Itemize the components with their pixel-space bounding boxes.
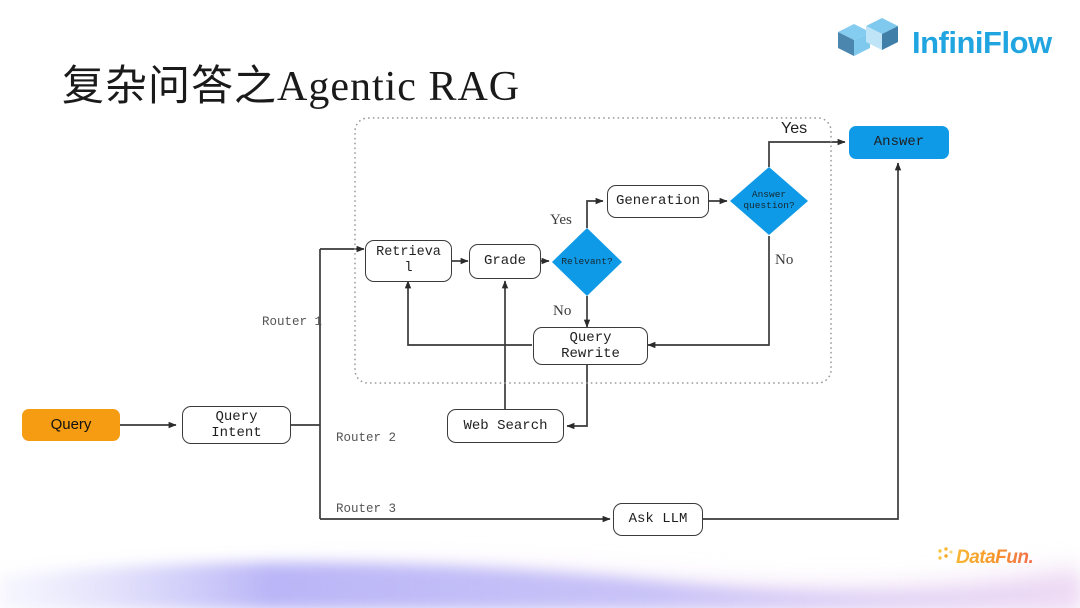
node-relevant-decision[interactable]: Relevant? <box>551 227 623 297</box>
node-generation-label: Generation <box>616 193 700 209</box>
node-answer-question-decision[interactable]: Answer question? <box>729 166 809 236</box>
edge-label-no-answer-question: No <box>775 252 793 269</box>
edge-label-yes-relevant: Yes <box>550 212 572 229</box>
router-label-3: Router 3 <box>336 502 396 516</box>
node-query-rewrite-label-1: Query <box>569 330 611 346</box>
node-grade[interactable]: Grade <box>469 244 541 279</box>
node-ask-llm[interactable]: Ask LLM <box>613 503 703 536</box>
node-query-rewrite-label-2: Rewrite <box>561 346 620 362</box>
router-label-1: Router 1 <box>262 315 322 329</box>
node-query-rewrite[interactable]: Query Rewrite <box>533 327 648 365</box>
node-answer-question-label: Answer question? <box>729 166 809 236</box>
flowchart-edges <box>0 0 1080 608</box>
node-answer-question-label-2: question? <box>743 201 794 212</box>
edge-label-yes-answer-question: Yes <box>781 120 807 138</box>
node-ask-llm-label: Ask LLM <box>629 511 688 527</box>
node-retrieval-label-1: Retrieva <box>376 245 441 261</box>
node-answer-label: Answer <box>874 134 924 150</box>
node-answer[interactable]: Answer <box>849 126 949 159</box>
node-query-label: Query <box>51 416 92 433</box>
node-relevant-label: Relevant? <box>551 227 623 297</box>
node-query[interactable]: Query <box>22 409 120 441</box>
router-label-2: Router 2 <box>336 431 396 445</box>
node-retrieval-label-2: l <box>404 261 412 277</box>
edge-label-no-relevant: No <box>553 303 571 320</box>
node-web-search[interactable]: Web Search <box>447 409 564 443</box>
node-grade-label: Grade <box>484 253 526 269</box>
slide-canvas: InfiniFlow DataFun. 复杂问答之Agentic RAG <box>0 0 1080 608</box>
node-query-intent[interactable]: Query Intent <box>182 406 291 444</box>
agentic-rag-flowchart: Query Query Intent Retrieva l Grade Rele… <box>0 0 1080 608</box>
node-query-intent-label-2: Intent <box>211 425 261 441</box>
node-query-intent-label-1: Query <box>215 409 257 425</box>
node-retrieval[interactable]: Retrieva l <box>365 240 452 282</box>
node-web-search-label: Web Search <box>463 418 547 434</box>
node-generation[interactable]: Generation <box>607 185 709 218</box>
